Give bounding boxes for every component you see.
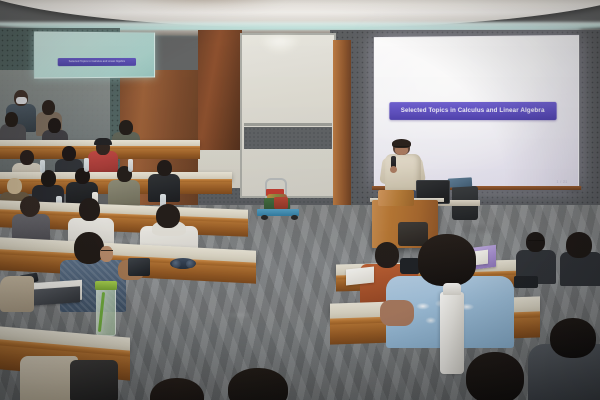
clear-water-bottle xyxy=(84,158,89,172)
student-forearm xyxy=(380,300,414,326)
student-head xyxy=(48,118,61,133)
student-grey-jacket-corner xyxy=(528,318,600,400)
face-mask xyxy=(16,97,27,104)
student-head xyxy=(74,232,104,264)
white-thermos-bottle[interactable] xyxy=(440,292,464,374)
student-head xyxy=(157,160,172,176)
student-head xyxy=(228,368,288,400)
slide-title-banner: Selected Topics in Calculus and Linear A… xyxy=(390,101,557,120)
student-head xyxy=(550,318,596,358)
student-head xyxy=(150,378,204,400)
hand-cart-red-basket xyxy=(274,197,288,209)
green-bottle-cap xyxy=(95,281,117,290)
ceiling-blur-highlight xyxy=(120,0,290,4)
clear-water-bottle xyxy=(128,159,133,172)
secondary-slide-title: Selected Topics in Calculus and Linear A… xyxy=(69,60,125,63)
student-beige-coat xyxy=(0,276,34,312)
student-head xyxy=(20,196,40,217)
thermos-cap xyxy=(443,283,461,295)
slide-title-text: Selected Topics in Calculus and Linear A… xyxy=(401,107,545,114)
student-head xyxy=(79,198,100,221)
wood-column-right xyxy=(333,40,351,215)
whiteboard-glare xyxy=(259,37,301,55)
eyeglasses-icon xyxy=(528,240,544,242)
whiteboard-dark-band xyxy=(244,127,332,149)
student-head xyxy=(119,120,133,135)
baseball-cap xyxy=(94,138,112,145)
student-curly-hair xyxy=(12,196,50,244)
tablet-on-desk[interactable] xyxy=(514,276,538,288)
lecture-hall-photo: Selected Topics in Calculus and Linear A… xyxy=(0,0,600,400)
student-face-profile xyxy=(100,246,113,262)
secondary-display xyxy=(448,177,472,187)
clear-water-bottle xyxy=(40,160,45,173)
student-head-right-edge xyxy=(560,232,600,282)
slide-page-number: 1 / 21 xyxy=(557,179,568,183)
student-head xyxy=(566,232,592,258)
student-dark-clothing-front xyxy=(70,360,118,400)
hand-cart-wheel-left xyxy=(261,215,268,220)
student-head xyxy=(156,204,180,228)
secondary-projection-screen: Selected Topics in Calculus and Linear A… xyxy=(34,31,155,78)
student-head xyxy=(62,146,76,161)
student-head xyxy=(7,178,22,194)
student-head xyxy=(5,112,18,127)
student-head-bottom-centre xyxy=(228,368,288,400)
student-head xyxy=(466,352,524,400)
student-head xyxy=(42,100,55,115)
secondary-slide-banner: Selected Topics in Calculus and Linear A… xyxy=(57,58,136,67)
student-head xyxy=(418,234,476,286)
student-head-bottom-right xyxy=(466,352,536,400)
student-dark-jacket-right xyxy=(516,232,556,280)
hand-cart-wheel-right xyxy=(291,215,298,220)
eyeglasses-icon xyxy=(101,250,113,252)
whiteboard-divider xyxy=(244,123,332,126)
paper-right-desk[interactable] xyxy=(346,267,374,286)
student-head xyxy=(526,232,545,252)
student-head xyxy=(20,150,34,165)
podium-upper-box xyxy=(378,190,414,206)
wall-whiteboard-panel xyxy=(240,33,336,198)
smartphone[interactable] xyxy=(128,258,150,276)
lecturer-hand xyxy=(390,166,397,173)
blue-headphones[interactable] xyxy=(170,258,196,269)
student-head-bottom-left xyxy=(150,378,204,400)
eyeglasses-icon xyxy=(394,146,409,149)
